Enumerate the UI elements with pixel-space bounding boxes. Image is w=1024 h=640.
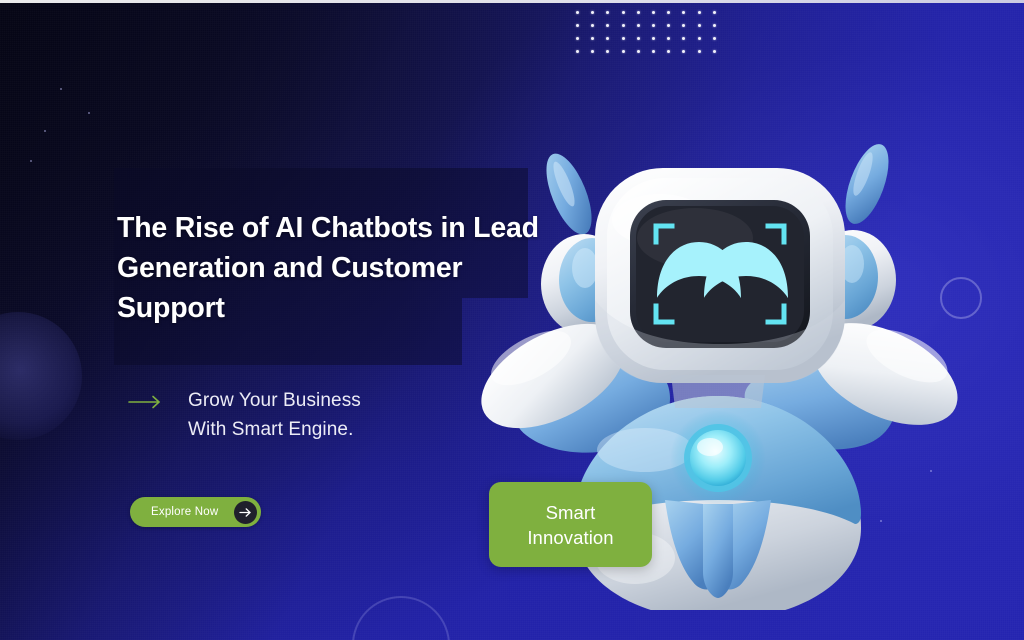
arrow-right-icon <box>128 395 164 409</box>
antenna-right <box>837 139 898 230</box>
chest-light <box>670 410 766 506</box>
dot <box>576 50 579 53</box>
dot <box>713 50 716 53</box>
card-line-1: Smart <box>546 500 596 525</box>
dot <box>591 50 594 53</box>
dot <box>622 50 625 53</box>
dot <box>682 11 685 14</box>
decorative-sparkle <box>88 112 90 114</box>
dot <box>576 11 579 14</box>
dot <box>622 11 625 14</box>
dot <box>591 24 594 27</box>
smart-innovation-card[interactable]: Smart Innovation <box>489 482 652 567</box>
subtitle-text: Grow Your Business With Smart Engine. <box>188 386 361 444</box>
explore-now-label: Explore Now <box>151 506 218 518</box>
dot <box>652 11 655 14</box>
dot <box>698 24 701 27</box>
dot <box>606 50 609 53</box>
dot <box>591 37 594 40</box>
dot <box>667 37 670 40</box>
dot <box>576 37 579 40</box>
card-line-2: Innovation <box>527 525 613 550</box>
decorative-sparkle <box>60 88 62 90</box>
dot <box>682 50 685 53</box>
dot <box>622 24 625 27</box>
subtitle-line-2: With Smart Engine. <box>188 415 361 444</box>
antenna-left <box>537 148 601 240</box>
subtitle-line-1: Grow Your Business <box>188 386 361 415</box>
dot <box>713 37 716 40</box>
dot <box>698 50 701 53</box>
head <box>595 168 845 383</box>
dot <box>667 11 670 14</box>
explore-now-button[interactable]: Explore Now <box>130 497 261 527</box>
dot <box>652 50 655 53</box>
dot <box>622 37 625 40</box>
top-edge-strip <box>0 0 1024 3</box>
dot <box>698 37 701 40</box>
dot <box>682 37 685 40</box>
dot <box>698 11 701 14</box>
arrow-right-icon <box>234 501 257 524</box>
dot <box>637 24 640 27</box>
dot <box>682 24 685 27</box>
dot <box>606 37 609 40</box>
dot <box>667 50 670 53</box>
dot <box>637 11 640 14</box>
decorative-sparkle <box>30 160 32 162</box>
dot <box>637 37 640 40</box>
head-screen <box>630 200 810 348</box>
decorative-dot-grid <box>570 6 722 58</box>
hero-banner: The Rise of AI Chatbots in Lead Generati… <box>0 0 1024 640</box>
dot <box>713 24 716 27</box>
dot <box>667 24 670 27</box>
dot <box>606 24 609 27</box>
dot <box>652 24 655 27</box>
dot <box>591 11 594 14</box>
dot <box>637 50 640 53</box>
decorative-sparkle <box>44 130 46 132</box>
dot <box>713 11 716 14</box>
dot <box>576 24 579 27</box>
subtitle-row: Grow Your Business With Smart Engine. <box>128 386 361 444</box>
dot <box>652 37 655 40</box>
dot <box>606 11 609 14</box>
